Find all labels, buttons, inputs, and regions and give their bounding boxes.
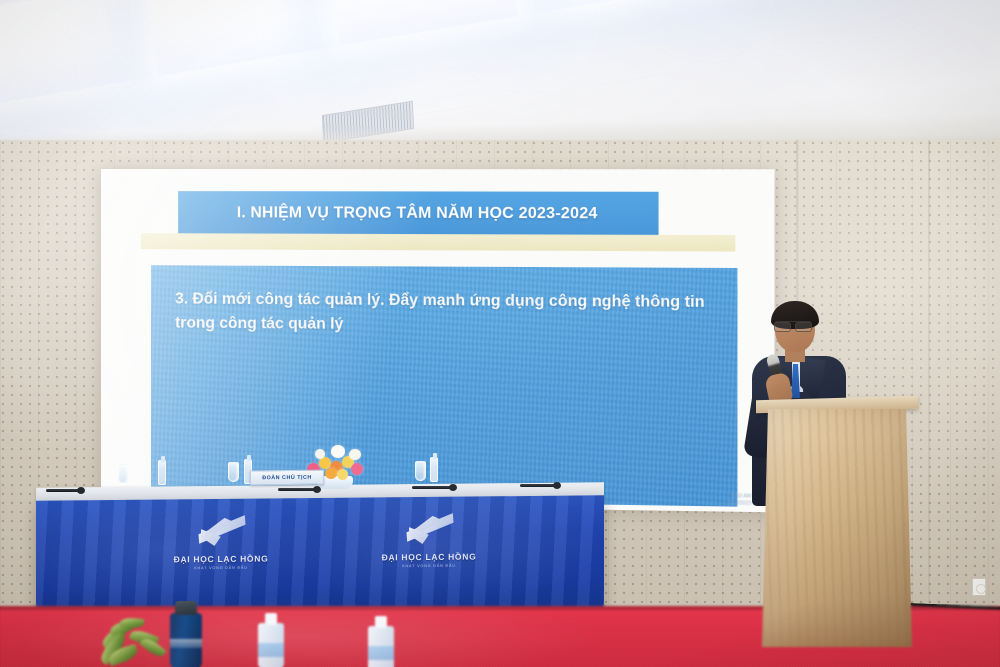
eyeglasses-icon [774,321,812,330]
logo-name: ĐẠI HỌC LẠC HỒNG [354,551,504,562]
timestamp-date: 11/2/2023 [728,500,751,508]
flower-bloom [337,469,348,480]
bottle-neck [265,613,277,625]
bottle-label [368,646,394,660]
wall-panel-seam [928,140,930,640]
conference-photo-scene: I. NHIỆM VỤ TRỌNG TÂM NĂM HỌC 2023-2024 … [0,0,1000,667]
thermos-cap [175,601,197,615]
table-microphone [46,489,80,492]
foreground-water-bottle [368,626,394,667]
foreground-thermos [170,613,202,667]
presidium-table-skirt: ĐẠI HỌC LẠC HỒNG KHÁT VỌNG DẪN ĐẦU ĐẠI H… [36,495,604,622]
flower-bloom [325,468,337,479]
flower-bloom [349,449,361,460]
presidium-nameplate: ĐOÀN CHỦ TỊCH [250,470,324,486]
ceiling [0,0,1000,152]
flower-bloom [331,445,345,458]
projector-timestamp-watermark: 8:50 AM 11/2/2023 [728,493,751,508]
university-logo: ĐẠI HỌC LẠC HỒNG KHÁT VỌNG DẪN ĐẦU [354,508,504,568]
wall-power-outlet [972,578,986,596]
bottle-label [258,643,284,657]
podium-shading [762,409,912,647]
lac-hong-bird-icon [187,511,255,552]
flower-bloom [351,463,363,475]
timestamp-time: 8:50 AM [728,493,751,501]
nameplate-text: ĐOÀN CHỦ TỊCH [262,474,312,481]
drinking-glass [415,461,426,481]
foreground-water-bottle [258,623,284,667]
flower-bloom [315,449,325,459]
slide-body-text: 3. Đổi mới công tác quản lý. Đẩy mạnh ứn… [175,287,710,339]
lac-hong-bird-icon [395,509,463,550]
slide-title-bar: I. NHIỆM VỤ TRỌNG TÂM NĂM HỌC 2023-2024 [178,191,658,236]
university-logo: ĐẠI HỌC LẠC HỒNG KHÁT VỌNG DẪN ĐẦU [146,510,296,570]
table-cloth-folds [36,495,604,622]
drinking-glass [228,462,239,482]
wooden-podium [762,398,912,648]
table-microphone [412,486,452,489]
slide-title-text: I. NHIỆM VỤ TRỌNG TÂM NĂM HỌC 2023-2024 [237,204,598,223]
table-microphone [520,484,556,487]
slide-title-underline [141,233,735,251]
bottle-neck [375,616,387,628]
thermos-label-band [170,639,202,648]
logo-name: ĐẠI HỌC LẠC HỒNG [146,553,296,564]
water-bottle [430,457,438,482]
drinking-glass [118,464,129,484]
water-bottle [158,460,166,485]
